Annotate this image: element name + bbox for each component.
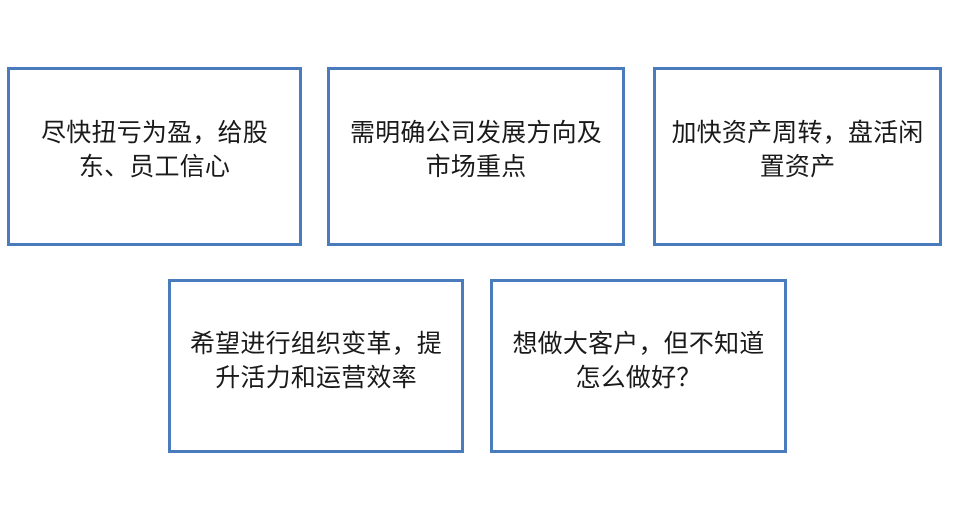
callout-box-4-text: 希望进行组织变革，提升活力和运营效率 bbox=[171, 327, 461, 395]
callout-box-1[interactable]: 尽快扭亏为盈，给股东、员工信心 bbox=[7, 67, 302, 246]
callout-box-5[interactable]: 想做大客户，但不知道怎么做好？ bbox=[490, 279, 787, 453]
callout-box-3-text: 加快资产周转，盘活闲置资产 bbox=[656, 116, 939, 184]
callout-box-5-text: 想做大客户，但不知道怎么做好？ bbox=[493, 327, 784, 395]
callout-box-2[interactable]: 需明确公司发展方向及市场重点 bbox=[327, 67, 625, 246]
slide-canvas: 尽快扭亏为盈，给股东、员工信心 需明确公司发展方向及市场重点 加快资产周转，盘活… bbox=[0, 0, 954, 525]
callout-box-2-text: 需明确公司发展方向及市场重点 bbox=[330, 116, 622, 184]
callout-box-3[interactable]: 加快资产周转，盘活闲置资产 bbox=[653, 67, 942, 246]
callout-box-4[interactable]: 希望进行组织变革，提升活力和运营效率 bbox=[168, 279, 464, 453]
callout-box-1-text: 尽快扭亏为盈，给股东、员工信心 bbox=[10, 116, 299, 184]
